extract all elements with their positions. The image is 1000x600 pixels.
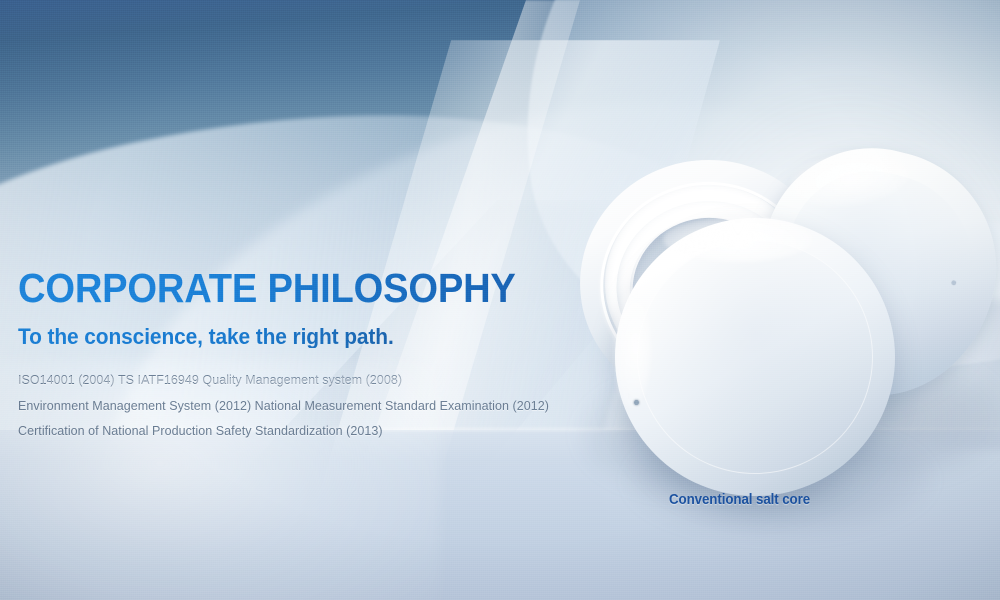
corporate-philosophy-banner: CORPORATE PHILOSOPHY To the conscience, … bbox=[0, 0, 1000, 600]
grain-overlay bbox=[0, 0, 1000, 600]
